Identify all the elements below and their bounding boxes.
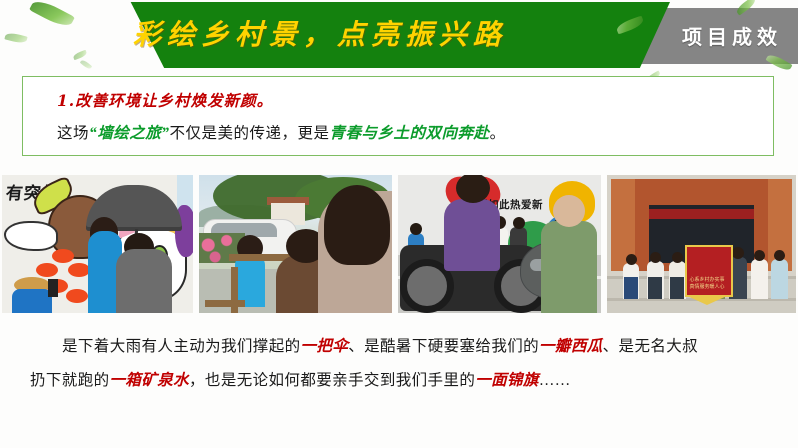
section-badge-label: 项目成效 [682, 21, 782, 50]
callout-body: 这场“墙绘之旅”不仅是美的传递，更是青春与乡土的双向奔赴。 [57, 121, 506, 143]
slide-root: 项目成效 彩绘乡村景，点亮振兴路 1.改善环境让乡村焕发新颜。 这场“墙绘之旅”… [0, 0, 798, 448]
photo-caption: 实践团队与村委合影，手持锦旗 [611, 301, 695, 310]
photo-caption: 村民骑摩托车路过，队员与村民交流 [402, 301, 498, 310]
footer-l1-a: 是下着大雨有人主动为我们撑起的 [62, 338, 301, 355]
footer-l2-red-2: 一面锦旗 [475, 372, 539, 389]
banner-text: 心系乡村办实事 真情服务暖人心 [689, 277, 725, 291]
group-photo-with-banner: 心系乡村办实事 真情服务暖人心 实践团队与村委合影，手持锦旗 [607, 175, 796, 313]
footer-line-1: 是下着大雨有人主动为我们撑起的一把伞、是酷暑下硬要塞给我们的一瓣西瓜、是无名大叔 [62, 334, 698, 356]
footer-l2-b: ，也是无论如何都要亲手交到我们手里的 [189, 372, 475, 389]
callout-body-mid: 不仅是美的传递，更是 [170, 125, 330, 142]
callout-body-prefix: 这场 [57, 125, 89, 142]
footer-l1-red-1: 一把伞 [301, 338, 349, 355]
page-title: 彩绘乡村景，点亮振兴路 [133, 13, 507, 53]
callout-body-highlight: 青春与乡土的双向奔赴 [330, 125, 490, 142]
callout-box: 1.改善环境让乡村焕发新颜。 这场“墙绘之旅”不仅是美的传递，更是青春与乡土的双… [22, 76, 774, 156]
photo-caption: 学生在墙上绘制彩绘，有人撑伞遮雨 [6, 301, 102, 310]
callout-body-quote: “墙绘之旅” [89, 125, 170, 142]
callout-heading: 1.改善环境让乡村焕发新颜。 [57, 89, 273, 111]
mural-painting-photo: 有突如 最喜 [2, 175, 193, 313]
students-outdoors-photo: 身穿蓝色队服的学生在乡村户外活动 [199, 175, 392, 313]
photo-caption: 身穿蓝色队服的学生在乡村户外活动 [203, 301, 299, 310]
slide-header: 项目成效 彩绘乡村景，点亮振兴路 [0, 0, 798, 72]
footer-l1-b: 、是酷暑下硬要塞给我们的 [348, 338, 539, 355]
footer-l2-a: 扔下就跑的 [30, 372, 110, 389]
callout-body-suffix: 。 [490, 125, 506, 142]
motorcycle-villager-photo: 我们如此热爱新 村民骑摩托车路过，队员与村民交流 [398, 175, 601, 313]
photo-strip: 有突如 最喜 [0, 175, 798, 313]
footer-line-2: 扔下就跑的一箱矿泉水，也是无论如何都要亲手交到我们手里的一面锦旗…… [30, 368, 571, 390]
footer-l1-c: 、是无名大叔 [603, 338, 698, 355]
page-title-wrap: 彩绘乡村景，点亮振兴路 [0, 0, 640, 66]
footer-l1-red-2: 一瓣西瓜 [539, 338, 603, 355]
footer-l2-red-1: 一箱矿泉水 [110, 372, 190, 389]
footer-l2-c: …… [539, 372, 571, 389]
